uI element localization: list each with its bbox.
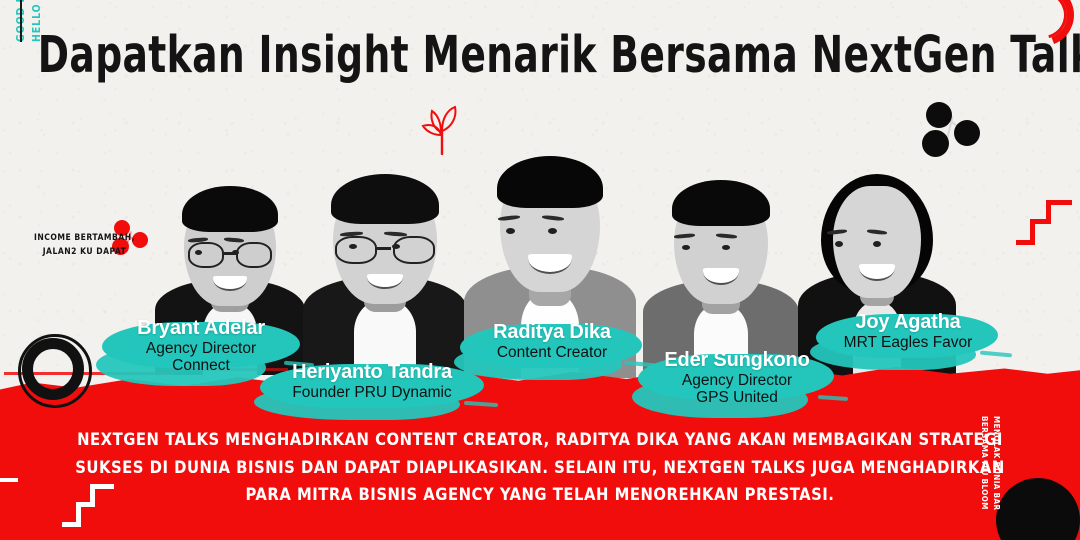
speaker-role-line-1: Founder PRU Dynamic xyxy=(252,385,492,401)
speaker-portrait-heriyanto-tandra xyxy=(300,140,470,380)
speaker-role-line-1: Agency Director xyxy=(96,341,306,357)
speaker-role-line-2: GPS United xyxy=(632,390,842,406)
slogan-second-line: Hello mental sehat! xyxy=(30,0,46,42)
caption-line-1: Income bertambah, xyxy=(34,232,135,246)
right-rotated-caption: Menolak dunia bar Bersama itu bloom xyxy=(977,416,1002,510)
vertical-teal-slogan: Good bye burn out Hello mental sehat! xyxy=(14,0,46,42)
nameplate-raditya-dika: Raditya Dika Content Creator xyxy=(452,322,652,361)
speaker-name: Bryant Adelar xyxy=(96,318,306,338)
caption-line-2: Jalan2 ku dapat xyxy=(34,246,135,260)
nameplate-joy-agatha: Joy Agatha MRT Eagles Favor xyxy=(808,312,1008,351)
page-title: Dapatkan Insight Menarik Bersama NextGen… xyxy=(38,25,1042,85)
speaker-role-line-1: MRT Eagles Favor xyxy=(808,335,1008,351)
right-caption-line-2: Bersama itu bloom xyxy=(977,416,989,510)
speaker-role-line-1: Agency Director xyxy=(632,373,842,389)
body-paragraph: NextGen Talks menghadirkan content creat… xyxy=(0,426,1080,509)
right-caption-line-1: Menolak dunia bar xyxy=(990,416,1002,510)
speaker-name: Raditya Dika xyxy=(452,322,652,342)
body-line-3: para mitra bisnis agency yang telah meno… xyxy=(0,482,1080,510)
slogan-struck-line: Good bye burn out xyxy=(14,0,30,42)
body-line-2: Sukses di dunia bisnis dan dapat diaplik… xyxy=(0,454,1080,482)
left-handwritten-caption: Income bertambah, Jalan2 ku dapat xyxy=(34,232,135,259)
poster-canvas: Dapatkan Insight Menarik Bersama NextGen… xyxy=(0,0,1080,540)
speaker-role-line-1: Content Creator xyxy=(452,345,652,361)
nameplate-eder-sungkono: Eder Sungkono Agency Director GPS United xyxy=(632,350,842,405)
nameplate-heriyanto-tandra: Heriyanto Tandra Founder PRU Dynamic xyxy=(252,362,492,401)
speaker-name: Joy Agatha xyxy=(808,312,1008,332)
red-staircase-icon xyxy=(1016,198,1074,260)
speaker-portrait-eder-sungkono xyxy=(640,152,802,380)
body-line-1: NextGen Talks menghadirkan content creat… xyxy=(0,426,1080,454)
